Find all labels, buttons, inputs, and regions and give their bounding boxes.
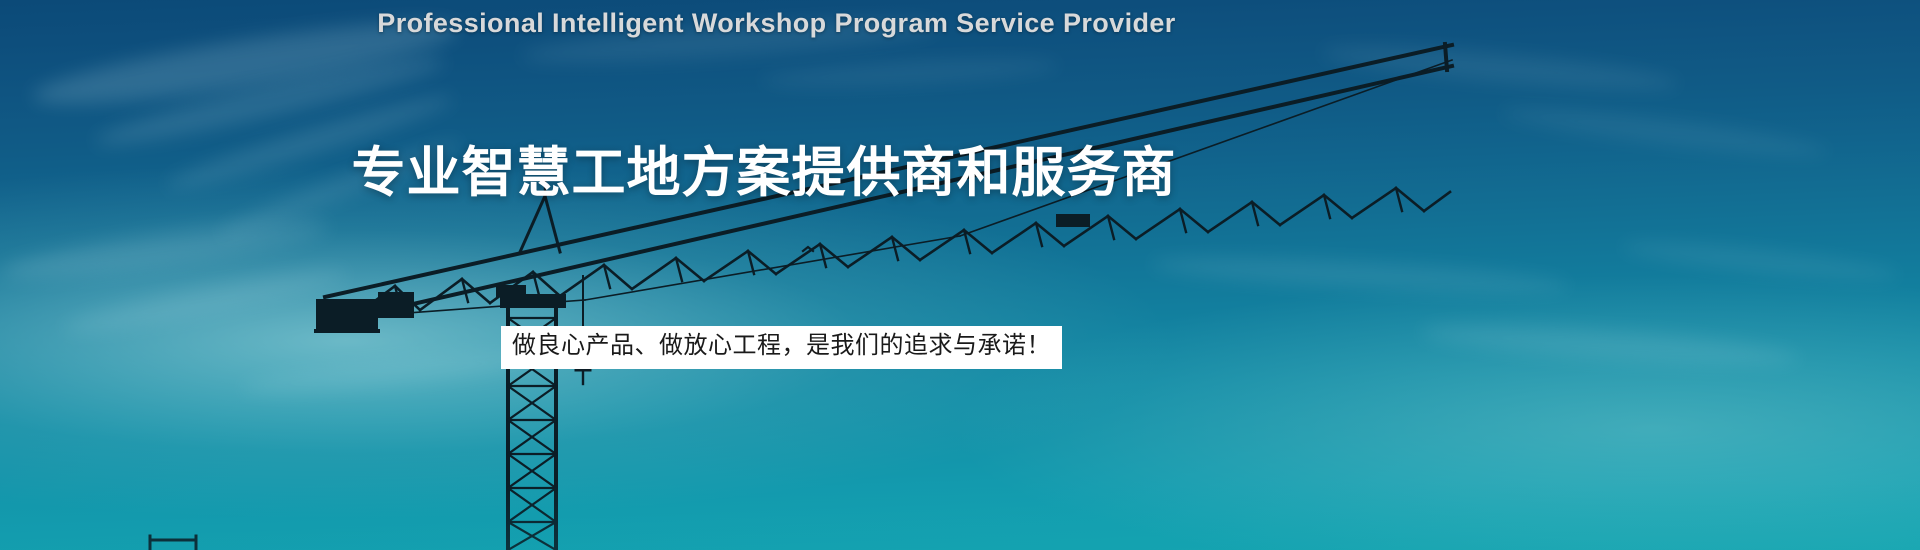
banner-tagline-box: 做良心产品、做放心工程，是我们的追求与承诺！ <box>501 326 1062 369</box>
banner-eyebrow-text: Professional Intelligent Workshop Progra… <box>0 8 1553 39</box>
banner-text-content: Professional Intelligent Workshop Progra… <box>0 0 1920 550</box>
hero-banner: Professional Intelligent Workshop Progra… <box>0 0 1920 550</box>
banner-headline: 专业智慧工地方案提供商和服务商 <box>0 128 1528 207</box>
